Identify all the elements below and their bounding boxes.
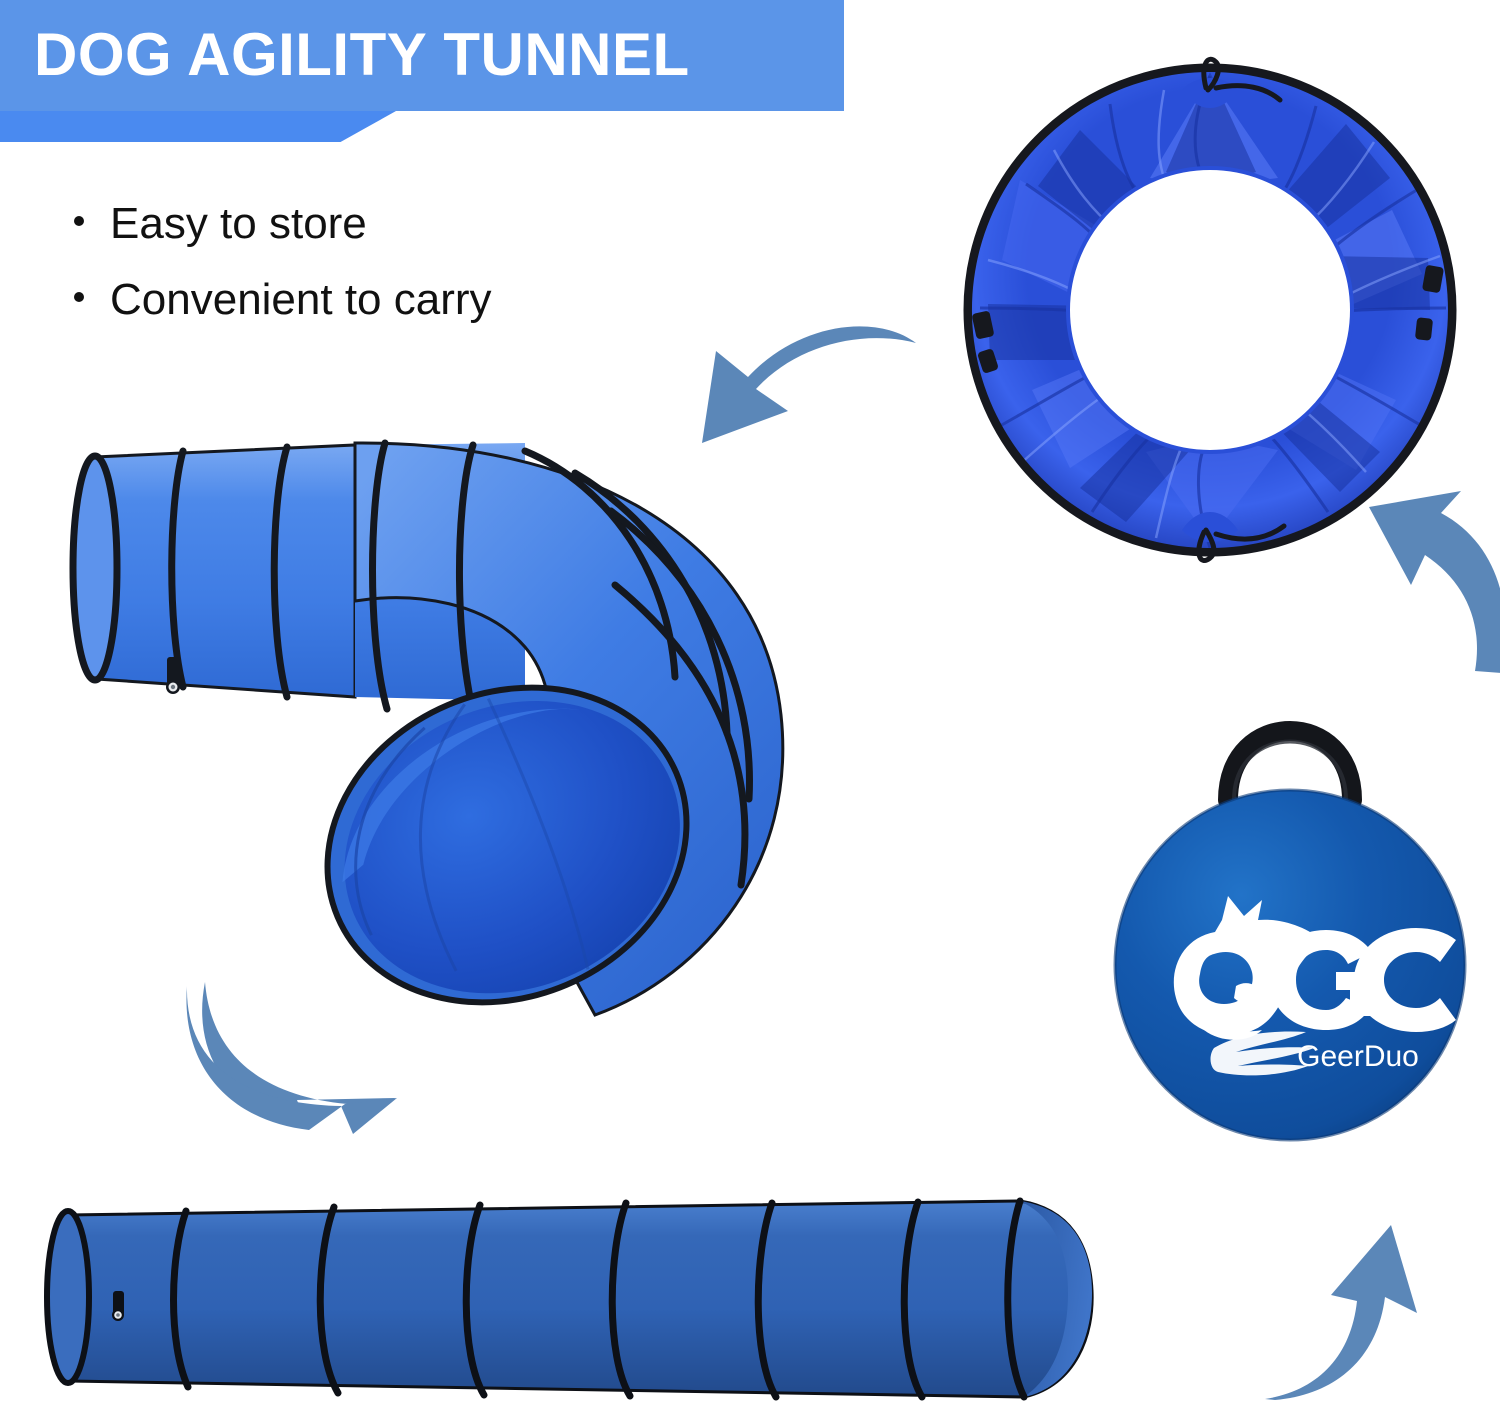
tunnel-grommet (112, 1291, 124, 1321)
arrow-to-carry-bag-icon (1325, 485, 1500, 675)
round-carry-bag-image: GeerDuo (1110, 680, 1470, 1180)
infographic-canvas: DOG AGILITY TUNNEL Easy to store Conveni… (0, 0, 1500, 1413)
bullet-dot-icon (74, 292, 84, 302)
bullet-dot-icon (74, 216, 84, 226)
arrow-to-straight-tunnel-icon (185, 980, 445, 1135)
brand-name: GeerDuo (1297, 1040, 1419, 1073)
tunnel-left-rim (47, 1211, 89, 1383)
feature-label: Easy to store (110, 186, 367, 262)
feature-label: Convenient to carry (110, 262, 492, 338)
header-banner-strip (0, 111, 396, 142)
arrow-straight-to-bag-icon (1265, 1185, 1455, 1400)
tunnel-body (48, 1201, 1092, 1397)
feature-list: Easy to store Convenient to carry (74, 186, 492, 338)
list-item: Easy to store (74, 186, 492, 262)
page-title: DOG AGILITY TUNNEL (34, 12, 690, 98)
list-item: Convenient to carry (74, 262, 492, 338)
arrow-to-folded-ring-icon (680, 315, 920, 465)
tunnel-left-rim (73, 456, 117, 680)
curved-agility-tunnel-image (55, 415, 895, 1055)
straight-agility-tunnel-image (20, 1175, 1130, 1410)
tunnel-grommet (166, 657, 180, 694)
